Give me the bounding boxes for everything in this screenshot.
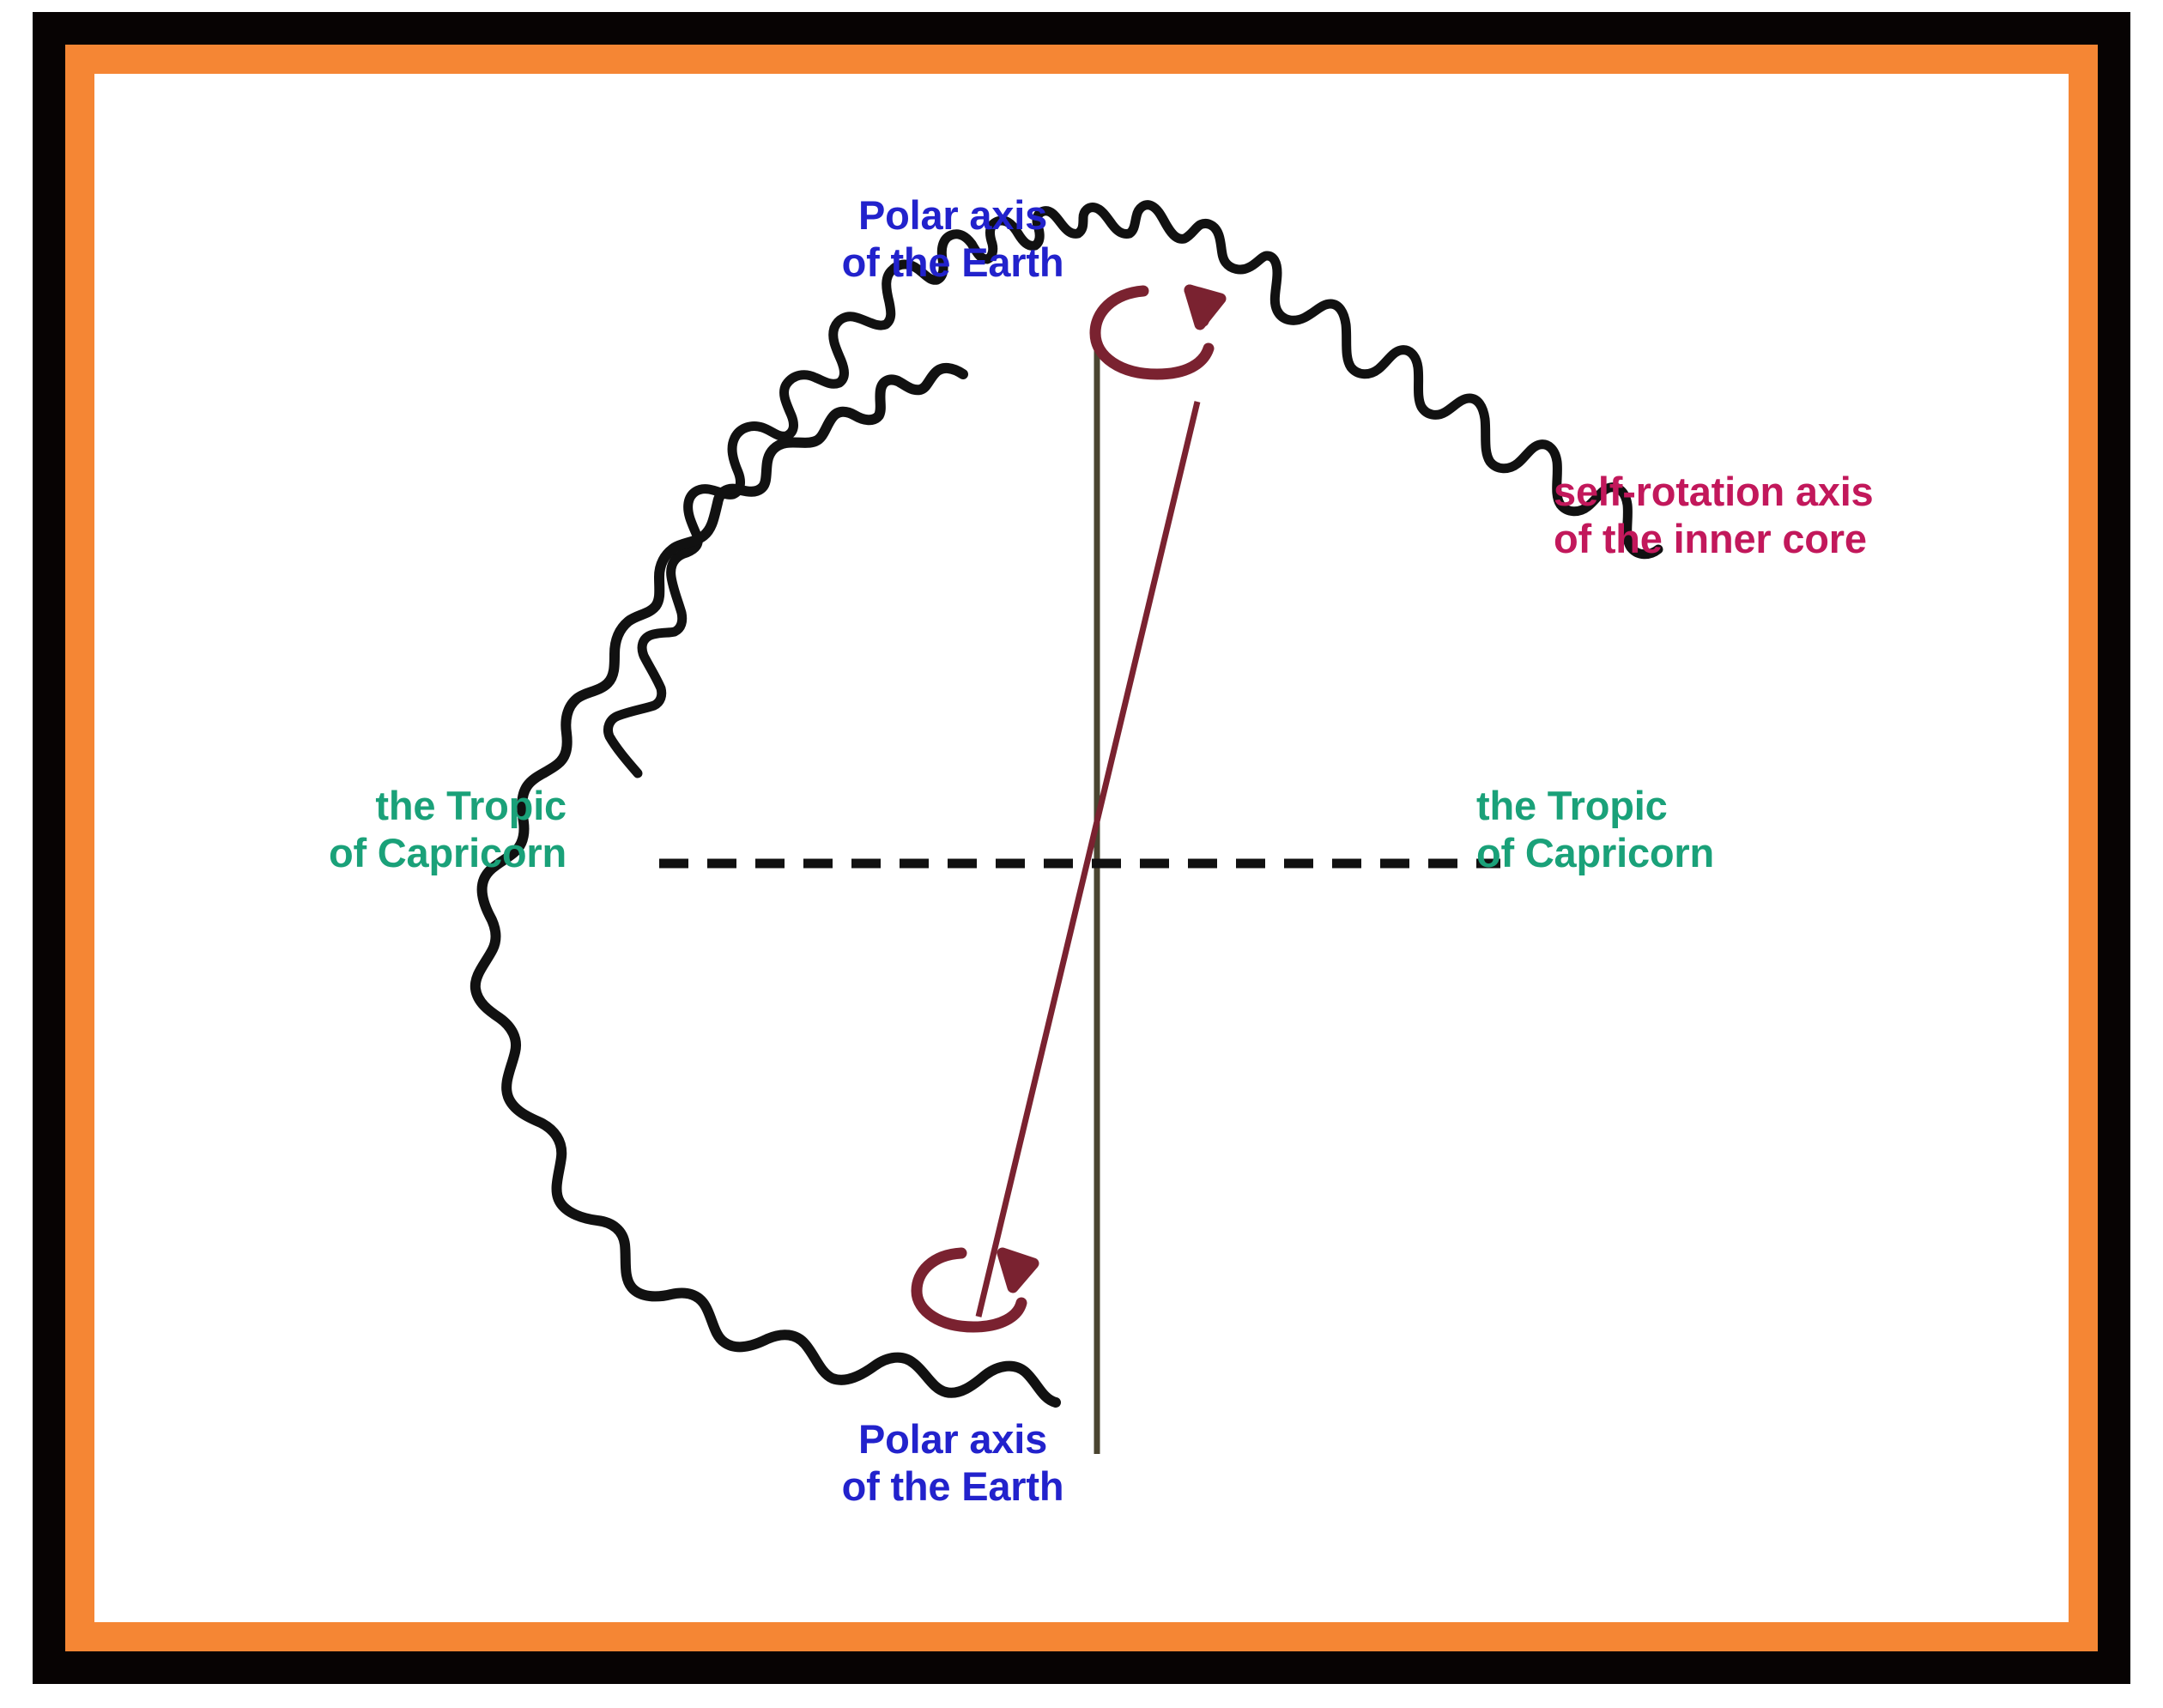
diagram-canvas: Polar axis of the Earth Polar axis of th… — [94, 74, 2069, 1622]
label-tropic-of-capricorn-left: the Tropic of Capricorn — [206, 783, 566, 876]
label-self-rotation-axis: self-rotation axis of the inner core — [1554, 469, 2034, 562]
rotation-arrow-top-icon — [1095, 290, 1221, 374]
label-tropic-of-capricorn-right: the Tropic of Capricorn — [1476, 783, 1845, 876]
label-polar-axis-top: Polar axis of the Earth — [781, 192, 1124, 286]
label-polar-axis-bottom: Polar axis of the Earth — [781, 1416, 1124, 1510]
diagram-root: Polar axis of the Earth Polar axis of th… — [0, 0, 2163, 1708]
